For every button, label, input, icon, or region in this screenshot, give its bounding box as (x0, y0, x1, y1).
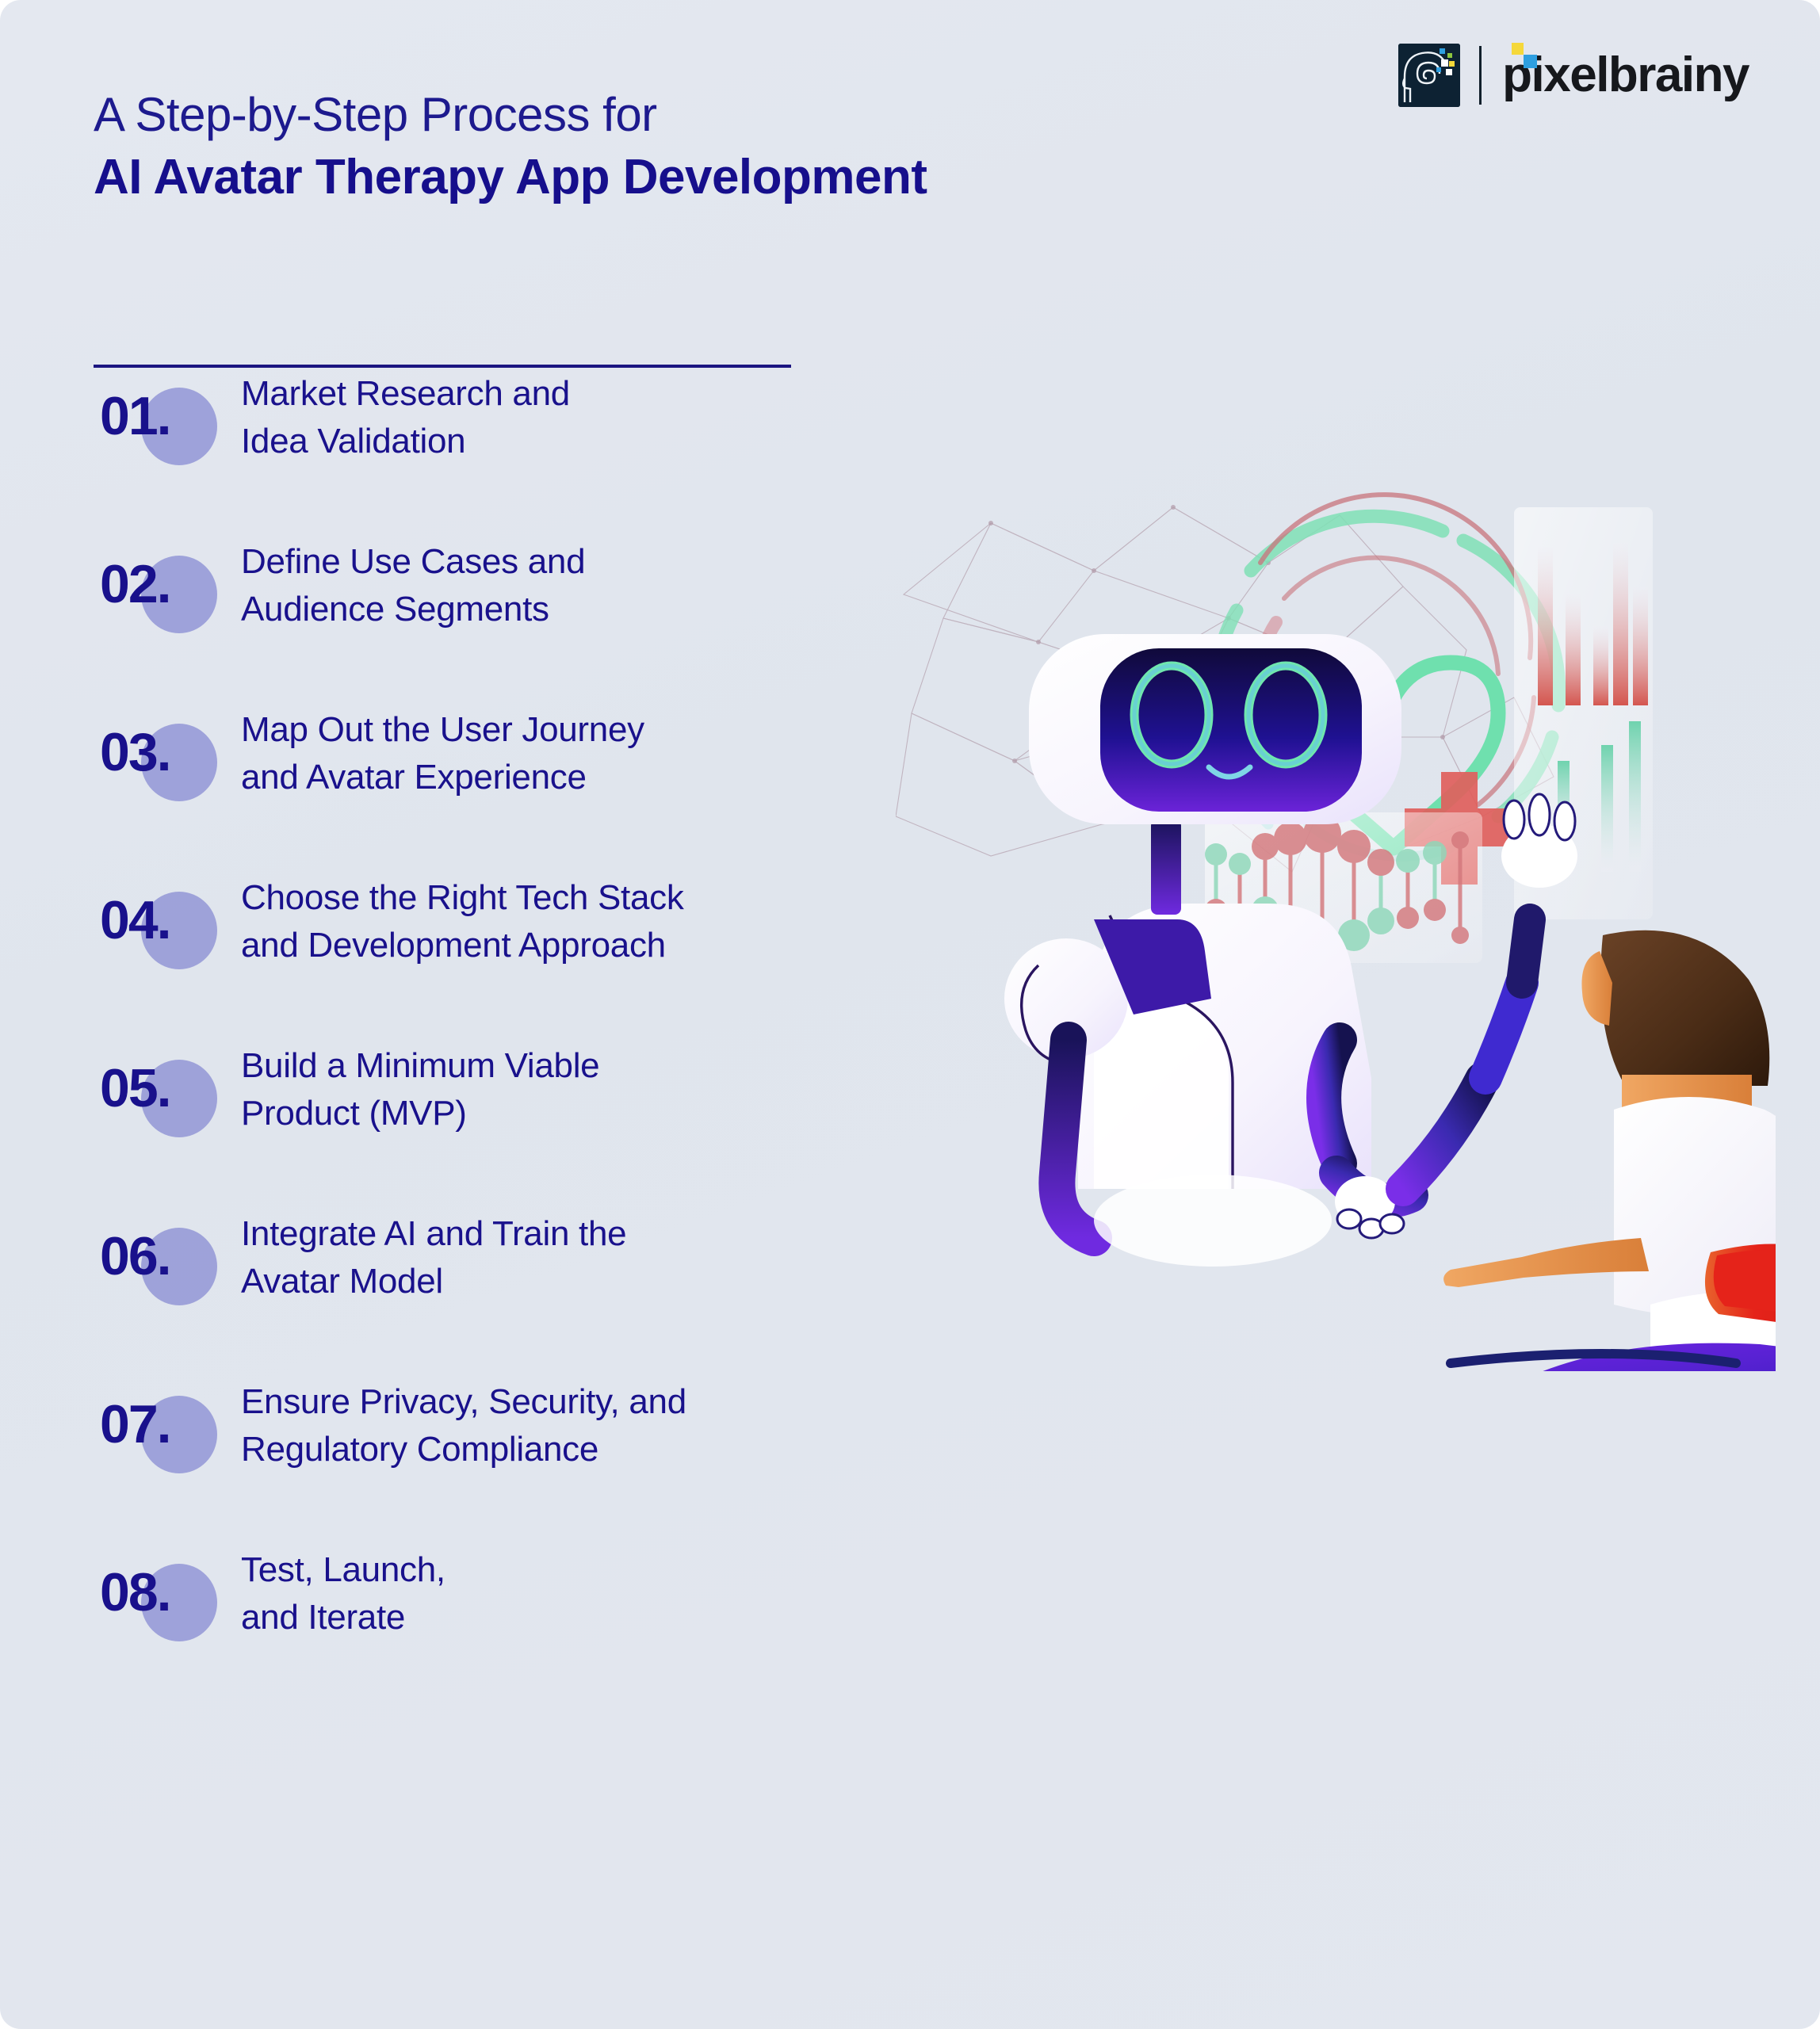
step-label-line1: Build a Minimum Viable (241, 1046, 599, 1085)
step-number: 05. (100, 1061, 170, 1115)
step-label: Choose the Right Tech Stack and Developm… (241, 874, 867, 969)
list-item: 06. Integrate AI and Train the Avatar Mo… (94, 1201, 886, 1369)
list-item: 03. Map Out the User Journey and Avatar … (94, 697, 886, 865)
infographic-poster: pixelbrainy A Step-by-Step Process for A… (0, 0, 1820, 2029)
step-label: Integrate AI and Train the Avatar Model (241, 1210, 867, 1305)
logo-pixel-yellow-icon (1512, 43, 1524, 55)
step-label-line2: and Development Approach (241, 922, 867, 969)
logo-wordmark: pixelbrainy (1502, 51, 1749, 100)
step-label-line1: Choose the Right Tech Stack (241, 878, 684, 917)
step-badge: 06. (100, 1218, 192, 1312)
list-item: 04. Choose the Right Tech Stack and Deve… (94, 865, 886, 1033)
step-label-line2: Product (MVP) (241, 1090, 867, 1137)
step-badge: 05. (100, 1050, 192, 1144)
step-label-line2: and Iterate (241, 1594, 867, 1641)
list-item: 01. Market Research and Idea Validation (94, 361, 886, 529)
step-label-line2: Audience Segments (241, 586, 867, 633)
step-label-line1: Test, Launch, (241, 1550, 445, 1589)
step-label: Ensure Privacy, Security, and Regulatory… (241, 1378, 867, 1473)
steps-list: 01. Market Research and Idea Validation … (94, 361, 886, 1705)
step-label: Build a Minimum Viable Product (MVP) (241, 1042, 867, 1137)
page-title-line2: AI Avatar Therapy App Development (94, 148, 1283, 206)
step-label-line1: Define Use Cases and (241, 542, 585, 581)
step-label: Market Research and Idea Validation (241, 370, 867, 465)
step-label-line2: and Avatar Experience (241, 754, 867, 801)
step-label-line2: Idea Validation (241, 418, 867, 465)
step-number: 06. (100, 1229, 170, 1283)
step-label: Map Out the User Journey and Avatar Expe… (241, 706, 867, 801)
step-label-line1: Integrate AI and Train the (241, 1214, 626, 1253)
step-badge: 01. (100, 378, 192, 472)
step-label-line1: Map Out the User Journey (241, 710, 644, 749)
page-header: A Step-by-Step Process for AI Avatar The… (94, 87, 1283, 206)
logo-divider (1479, 46, 1482, 105)
list-item: 05. Build a Minimum Viable Product (MVP) (94, 1033, 886, 1201)
step-badge: 03. (100, 714, 192, 808)
list-item: 07. Ensure Privacy, Security, and Regula… (94, 1369, 886, 1537)
step-badge: 02. (100, 546, 192, 640)
step-label: Define Use Cases and Audience Segments (241, 538, 867, 633)
step-label: Test, Launch, and Iterate (241, 1546, 867, 1641)
logo-pixel-blue-icon (1524, 55, 1537, 68)
step-number: 03. (100, 725, 170, 779)
step-label-line2: Avatar Model (241, 1258, 867, 1305)
ai-robot-therapy-illustration (896, 476, 1776, 1371)
seated-patient-icon (1443, 930, 1776, 1371)
step-number: 07. (100, 1397, 170, 1451)
step-label-line2: Regulatory Compliance (241, 1426, 867, 1473)
list-item: 08. Test, Launch, and Iterate (94, 1537, 886, 1705)
step-badge: 07. (100, 1386, 192, 1480)
step-badge: 04. (100, 882, 192, 976)
pixelbrainy-head-icon (1398, 44, 1460, 107)
step-label-line1: Ensure Privacy, Security, and (241, 1382, 686, 1421)
list-item: 02. Define Use Cases and Audience Segmen… (94, 529, 886, 697)
step-number: 08. (100, 1565, 170, 1619)
step-number: 02. (100, 557, 170, 611)
page-title-line1: A Step-by-Step Process for (94, 87, 1283, 143)
step-label-line1: Market Research and (241, 374, 570, 413)
step-number: 04. (100, 893, 170, 947)
step-badge: 08. (100, 1554, 192, 1648)
brand-logo: pixelbrainy (1398, 41, 1749, 109)
step-number: 01. (100, 389, 170, 443)
